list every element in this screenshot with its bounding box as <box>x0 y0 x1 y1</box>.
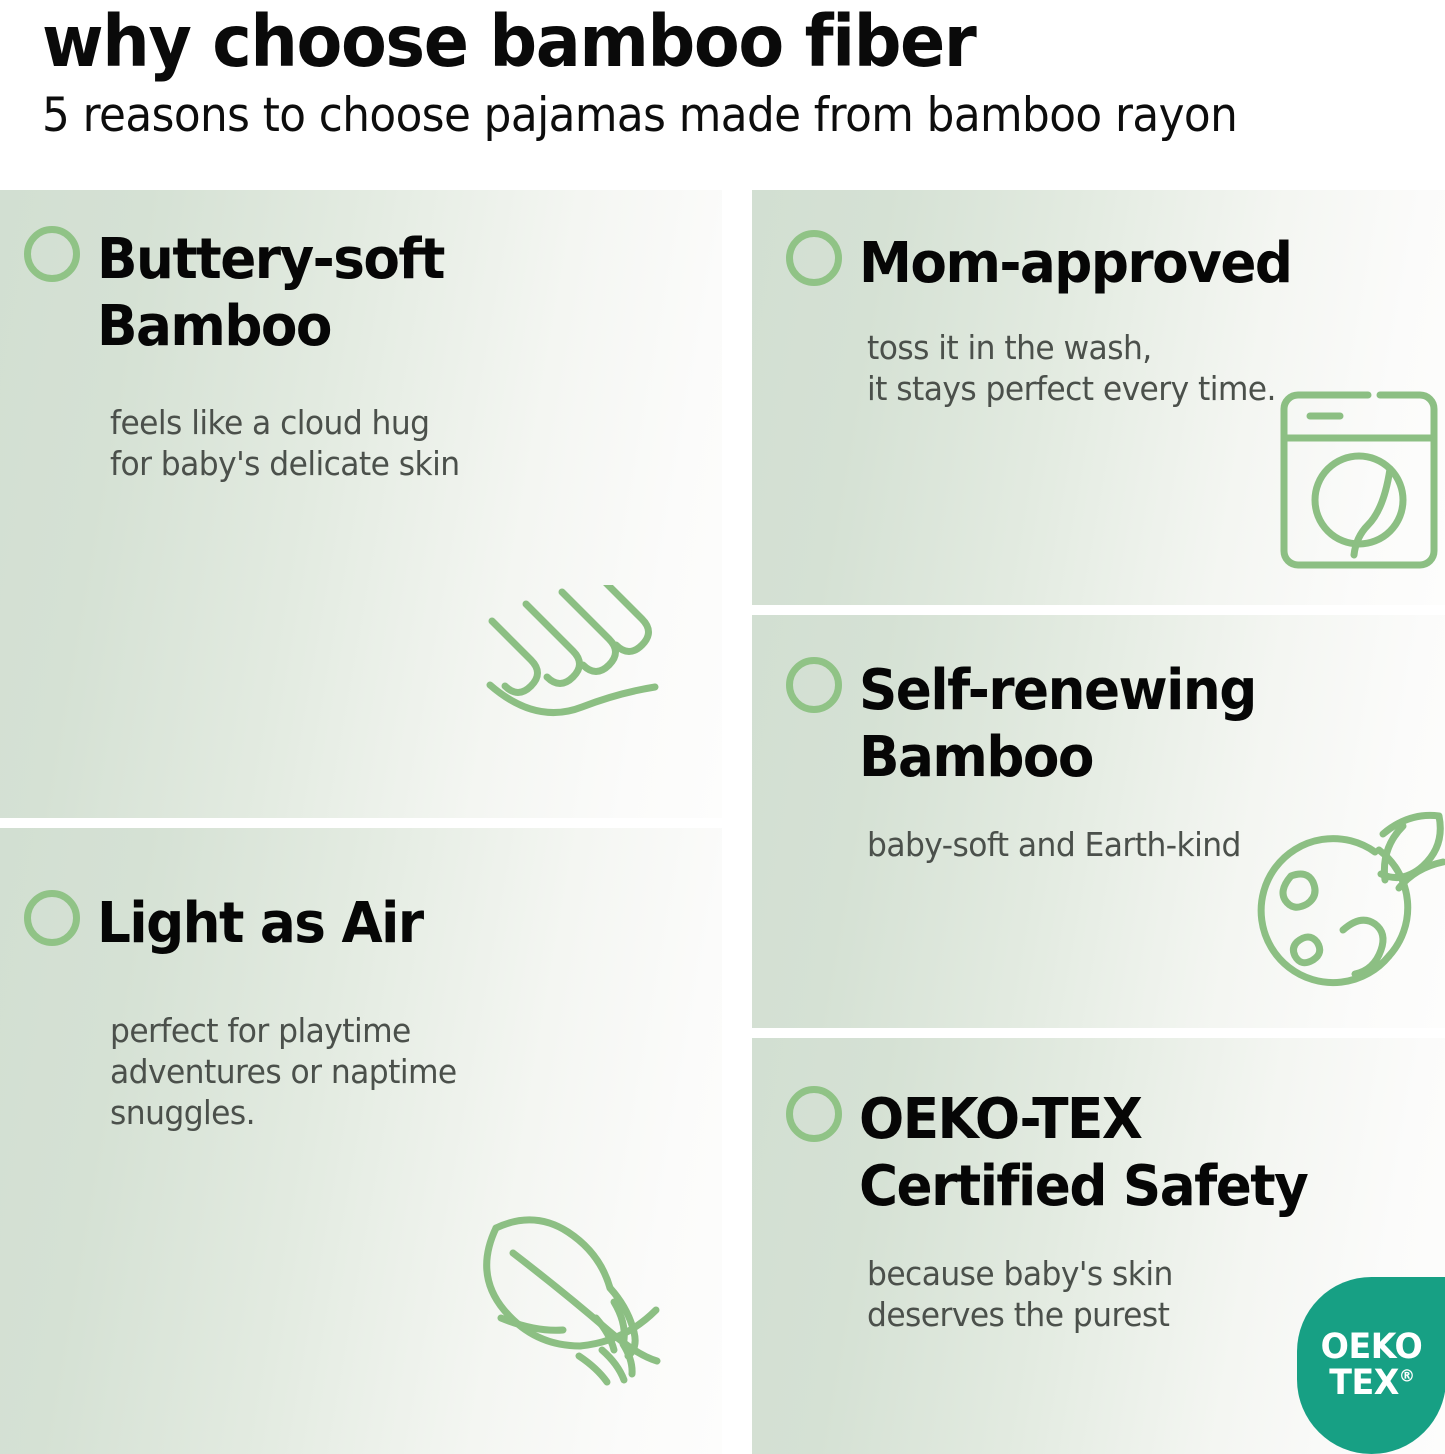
card-title: Buttery-soft Bamboo <box>97 226 444 360</box>
oeko-tex-badge: OEKO TEX® <box>1297 1277 1445 1454</box>
benefits-grid: Buttery-soft Bamboo feels like a cloud h… <box>0 190 1445 1454</box>
bullet-ring-icon <box>24 226 80 282</box>
oeko-badge-line2: TEX® <box>1329 1366 1414 1402</box>
card-header: Mom-approved <box>786 230 1314 297</box>
feather-icon <box>468 1198 708 1413</box>
bullet-ring-icon <box>786 230 842 286</box>
bullet-ring-icon <box>786 657 842 713</box>
card-header: Light as Air <box>24 890 440 957</box>
card-title: Light as Air <box>97 890 423 957</box>
hand-touching-fabric-icon <box>470 585 700 770</box>
card-light-as-air: Light as Air perfect for playtime advent… <box>0 828 722 1454</box>
card-body-text: because baby's skin deserves the purest <box>867 1253 1173 1335</box>
card-header: Buttery-soft Bamboo <box>24 226 462 360</box>
card-title: OEKO-TEX Certified Safety <box>859 1086 1307 1220</box>
card-body-text: feels like a cloud hug for baby's delica… <box>110 402 460 484</box>
card-title: Mom-approved <box>859 230 1291 297</box>
card-title: Self-renewing Bamboo <box>859 657 1256 791</box>
bullet-ring-icon <box>786 1086 842 1142</box>
card-body-text: baby-soft and Earth-kind <box>867 824 1241 865</box>
card-buttery-soft-bamboo: Buttery-soft Bamboo feels like a cloud h… <box>0 190 722 818</box>
oeko-badge-line1: OEKO <box>1321 1330 1423 1366</box>
card-mom-approved: Mom-approved toss it in the wash, it sta… <box>752 190 1445 605</box>
header: why choose bamboo fiber 5 reasons to cho… <box>0 0 1445 190</box>
card-body-text: perfect for playtime adventures or napti… <box>110 1010 457 1133</box>
washing-machine-icon <box>1272 385 1445 575</box>
card-self-renewing-bamboo: Self-renewing Bamboo baby-soft and Earth… <box>752 615 1445 1028</box>
page-title: why choose bamboo fiber <box>42 0 1361 82</box>
card-body-text: toss it in the wash, it stays perfect ev… <box>867 327 1276 409</box>
bullet-ring-icon <box>24 890 80 946</box>
earth-with-leaf-icon <box>1257 810 1445 995</box>
card-header: OEKO-TEX Certified Safety <box>786 1086 1331 1220</box>
registered-mark: ® <box>1398 1366 1414 1386</box>
oeko-badge-line2-text: TEX <box>1329 1363 1399 1403</box>
card-header: Self-renewing Bamboo <box>786 657 1277 791</box>
card-oeko-tex-certified-safety: OEKO-TEX Certified Safety because baby's… <box>752 1038 1445 1454</box>
page-subtitle: 5 reasons to choose pajamas made from ba… <box>42 82 1347 144</box>
